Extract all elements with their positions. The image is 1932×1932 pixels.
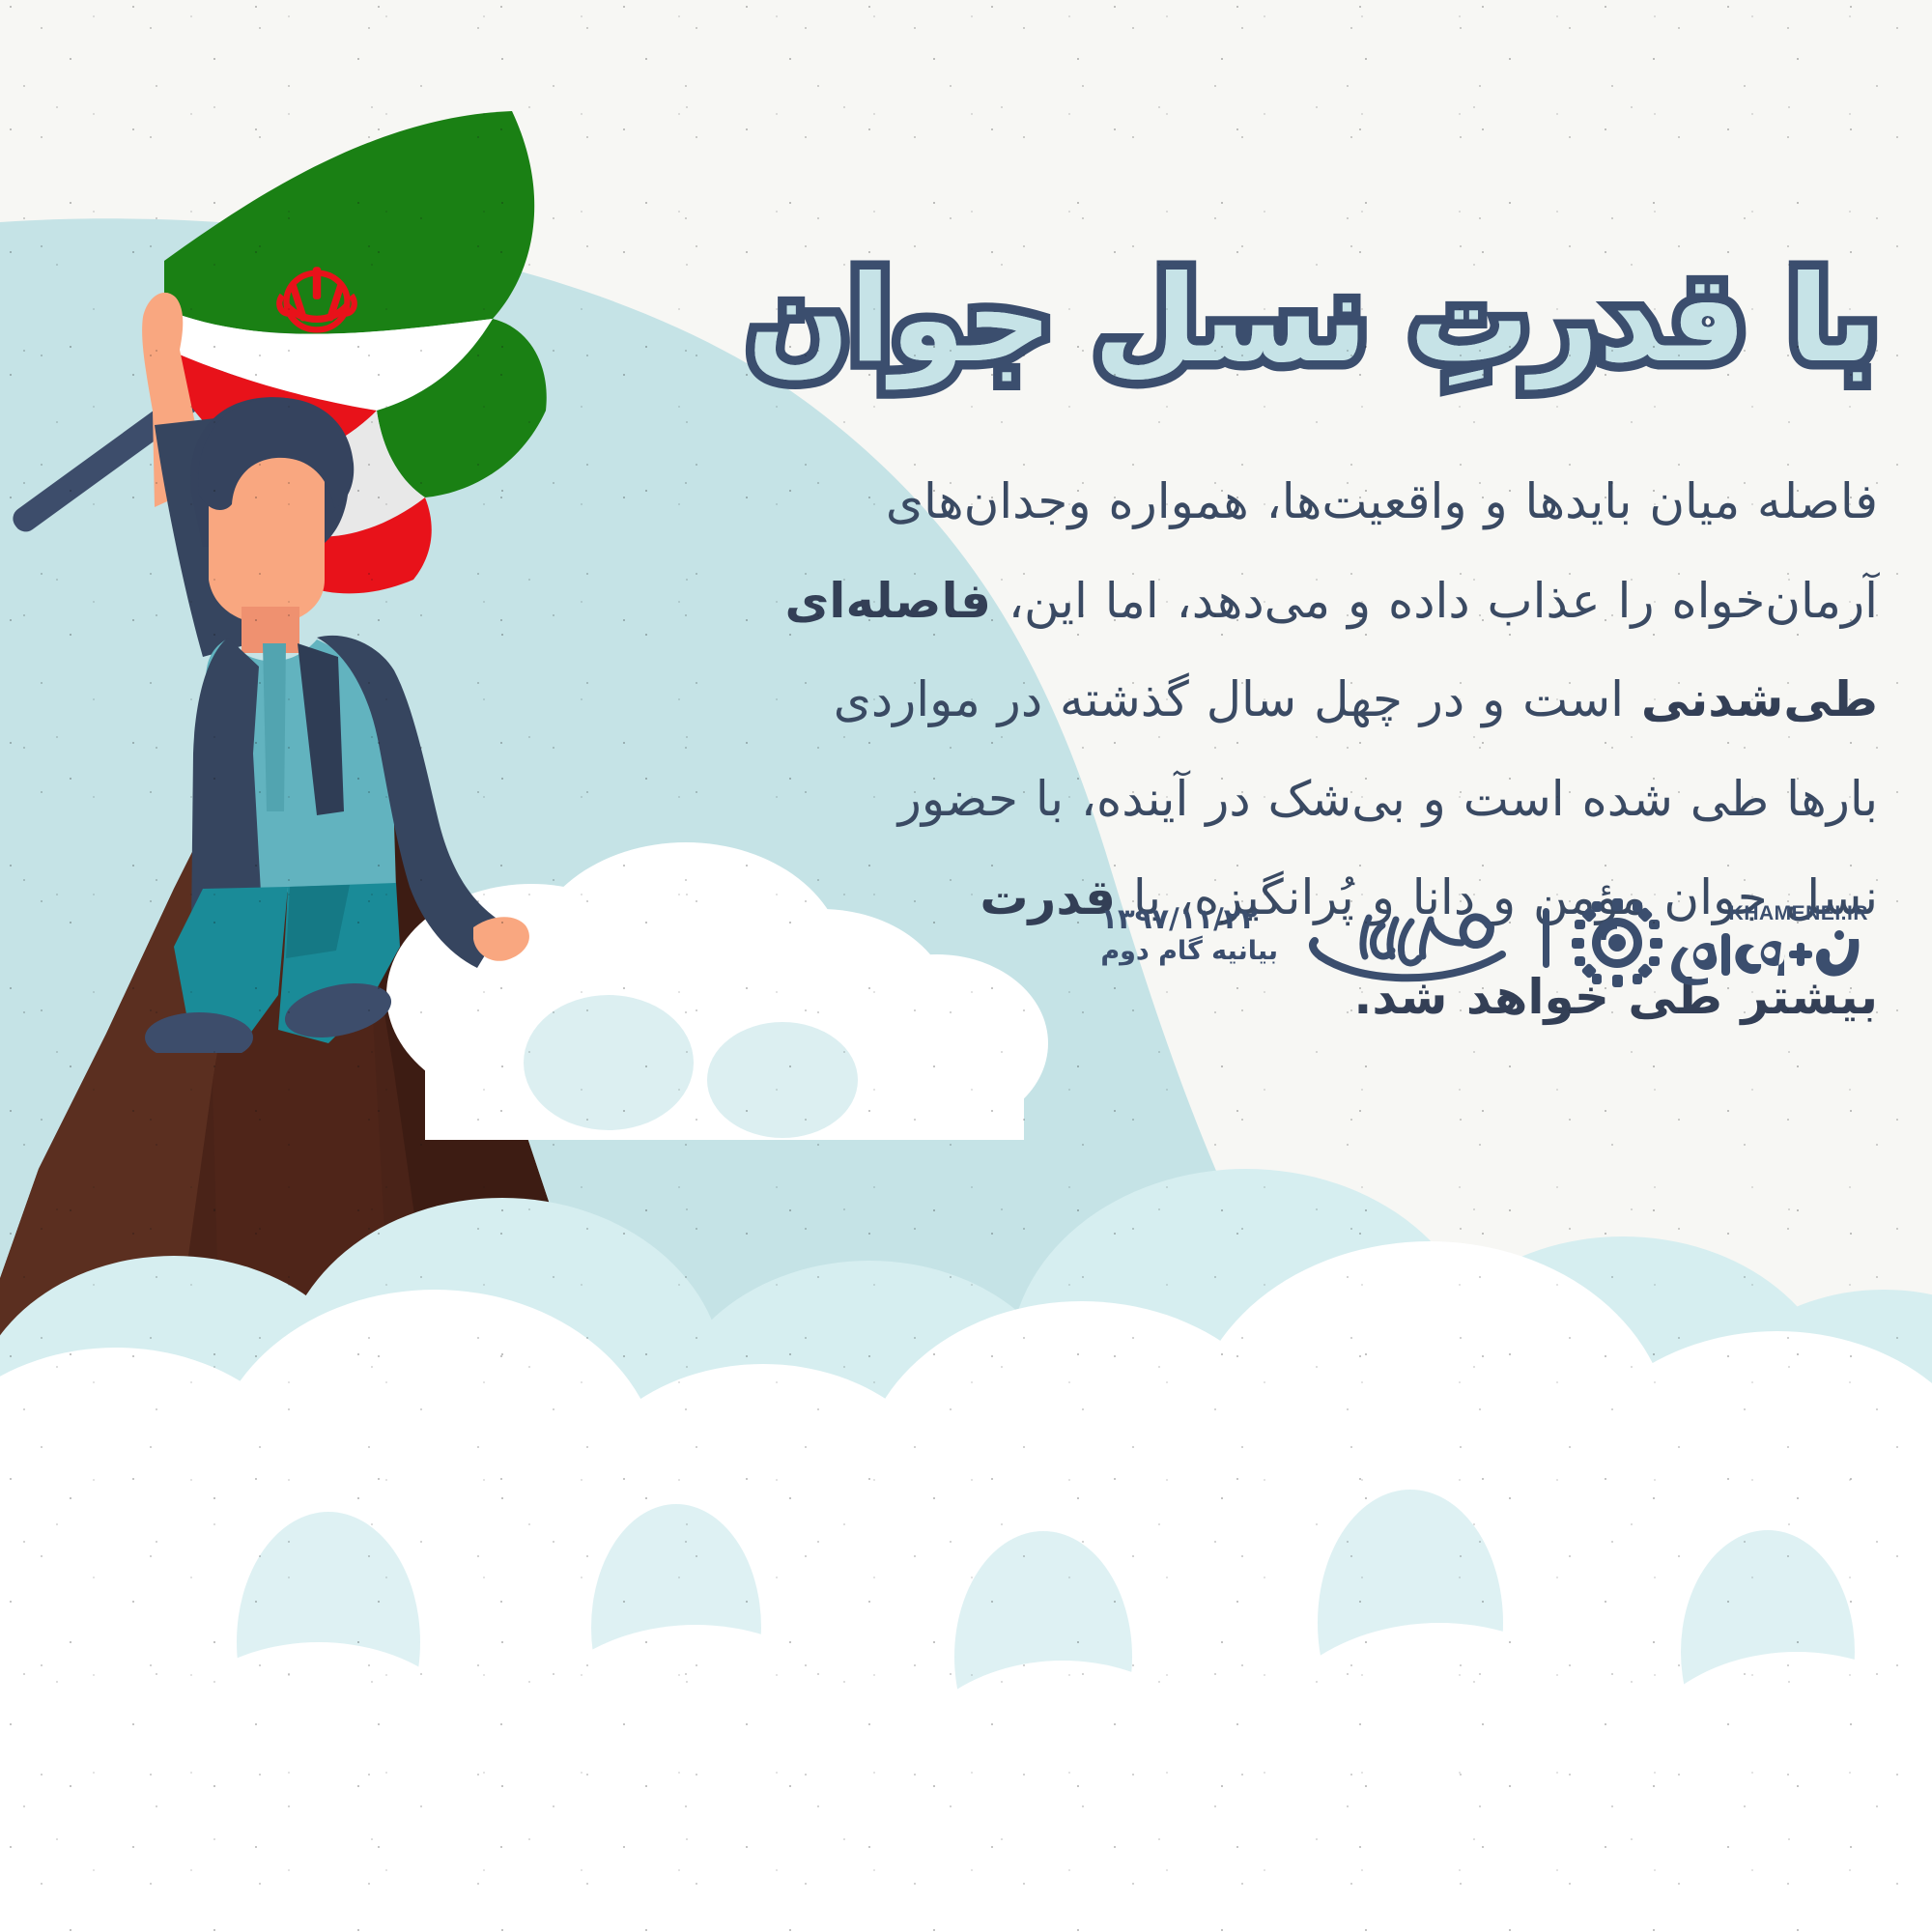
flag-bearer-illustration [10,77,628,1053]
emphasis: قدرت [980,869,1116,925]
emphasis: فاصله‌ای [784,573,991,629]
credits-divider [1543,908,1549,968]
quote-line-2: آرمان‌خواه را عذاب داده و می‌دهد، اما ای… [738,552,1878,651]
brand-mark[interactable]: KHAMENEI.IR نوجوان+ [1669,898,1874,987]
nojavan-plus-wordmark[interactable]: نوجوان+ [1669,929,1868,989]
emphasis: طی‌شدنی [1641,671,1878,727]
khamenei-sun-logo[interactable] [1571,898,1663,987]
brand-site-label: KHAMENEI.IR [1729,902,1868,925]
date-block: ۱۳۹۷/۱۱/۲۲ بیانیه گام دوم [1100,898,1278,968]
quote-line-3: طی‌شدنی است و در چهل سال گذشته در مواردی [738,650,1878,750]
source-label: بیانیه گام دوم [1100,936,1278,968]
title-block: با قدرتِ نسل جوان با قدرتِ نسل جوان [738,241,1878,435]
jacket-left [191,638,263,927]
calligraphic-signature: سید محمد مصلحی [1299,900,1521,989]
shirt-placket [263,643,286,811]
poster-canvas: با قدرتِ نسل جوان با قدرتِ نسل جوان فاصل… [0,0,1932,1932]
publish-date: ۱۳۹۷/۱۱/۲۲ [1100,902,1258,936]
quote-line-4: بارها طی شده است و بی‌شک در آینده، با حض… [738,750,1878,849]
cloud-bank [0,1101,1932,1932]
quote-line-3-text: طی‌شدنی است و در چهل سال گذشته در مواردی [834,671,1878,727]
quote-line-1: فاصله میان بایدها و واقعیت‌ها، همواره وج… [738,452,1878,552]
credits-row: ۱۳۹۷/۱۱/۲۲ بیانیه گام دوم سید محمد مصلحی [1100,898,1874,989]
quote-line-2-text: آرمان‌خواه را عذاب داده و می‌دهد، اما ای… [784,573,1878,629]
page-title-fill: با قدرتِ نسل جوان [738,241,1878,400]
brand-block[interactable]: KHAMENEI.IR نوجوان+ [1571,898,1874,987]
